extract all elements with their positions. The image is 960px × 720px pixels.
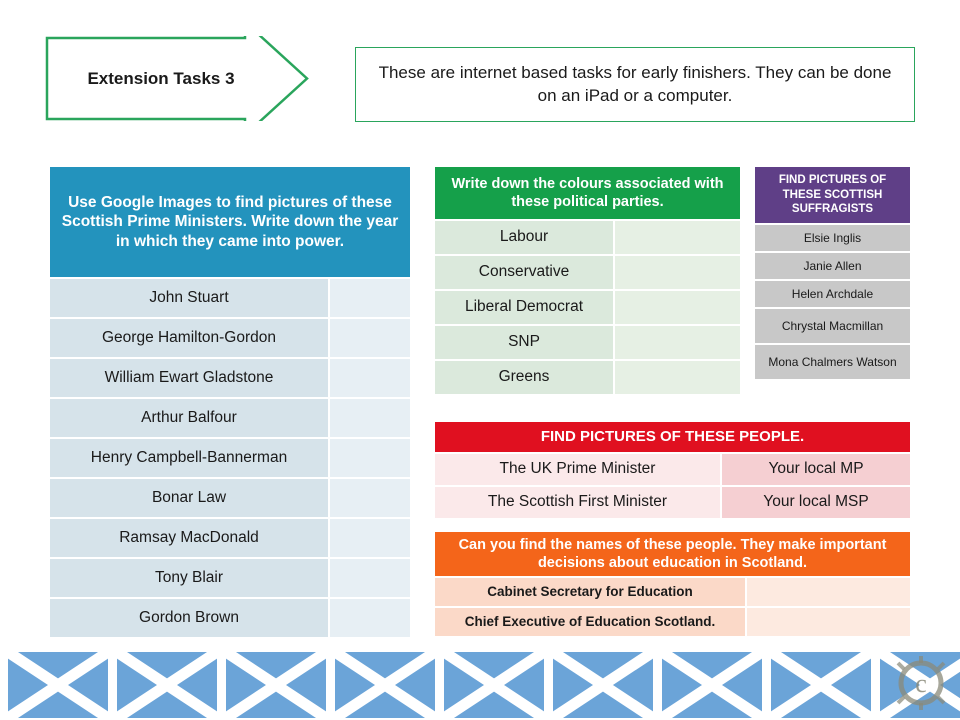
suffragist-name: Chrystal Macmillan [755, 309, 910, 343]
table-row: Janie Allen [755, 253, 910, 279]
pm-name: Arthur Balfour [50, 399, 328, 437]
table-row: Liberal Democrat [435, 291, 740, 324]
pm-table-heading: Use Google Images to find pictures of th… [50, 167, 410, 277]
pm-answer-field[interactable] [330, 599, 410, 637]
pm-answer-field[interactable] [330, 479, 410, 517]
party-name: Labour [435, 221, 613, 254]
page-header: Extension Tasks 3 These are internet bas… [0, 0, 960, 150]
scotland-flag-strip: c [0, 650, 960, 720]
table-row: The Scottish First Minister Your local M… [435, 487, 910, 518]
party-colour-field[interactable] [615, 221, 740, 254]
svg-text:c: c [915, 669, 927, 698]
party-colour-field[interactable] [615, 361, 740, 394]
education-answer-field[interactable] [747, 608, 910, 636]
intro-text: These are internet based tasks for early… [370, 62, 900, 106]
party-colour-field[interactable] [615, 326, 740, 359]
pm-name: William Ewart Gladstone [50, 359, 328, 397]
education-role: Cabinet Secretary for Education [435, 578, 745, 606]
pm-name: George Hamilton-Gordon [50, 319, 328, 357]
table-row: Elsie Inglis [755, 225, 910, 251]
table-row: George Hamilton-Gordon [50, 319, 410, 357]
scotland-flag-icon [117, 652, 217, 718]
pm-name: Tony Blair [50, 559, 328, 597]
person-role: Your local MP [722, 454, 910, 485]
scotland-flag-icon [335, 652, 435, 718]
party-colour-field[interactable] [615, 256, 740, 289]
pm-answer-field[interactable] [330, 559, 410, 597]
pm-name: Henry Campbell-Bannerman [50, 439, 328, 477]
pm-answer-field[interactable] [330, 519, 410, 557]
table-row: Bonar Law [50, 479, 410, 517]
table-row: Chief Executive of Education Scotland. [435, 608, 910, 636]
education-table-heading: Can you find the names of these people. … [435, 532, 910, 576]
party-name: Greens [435, 361, 613, 394]
scotland-flag-icon [444, 652, 544, 718]
find-pictures-people-table: FIND PICTURES OF THESE PEOPLE. The UK Pr… [435, 422, 910, 518]
pm-name: Bonar Law [50, 479, 328, 517]
pm-name: John Stuart [50, 279, 328, 317]
table-row: Tony Blair [50, 559, 410, 597]
pm-answer-field[interactable] [330, 319, 410, 357]
extension-tasks-arrow: Extension Tasks 3 [45, 36, 310, 121]
table-row: Conservative [435, 256, 740, 289]
table-row: Henry Campbell-Bannerman [50, 439, 410, 477]
suffragist-name: Mona Chalmers Watson [755, 345, 910, 379]
scotland-flag-icon [553, 652, 653, 718]
table-row: Mona Chalmers Watson [755, 345, 910, 379]
table-row: William Ewart Gladstone [50, 359, 410, 397]
scottish-suffragists-table: FIND PICTURES OF THESE SCOTTISH SUFFRAGI… [755, 167, 910, 379]
pm-name: Gordon Brown [50, 599, 328, 637]
table-row: Labour [435, 221, 740, 254]
scotland-flag-icon [226, 652, 326, 718]
scotland-flag-icon [771, 652, 871, 718]
party-table-heading: Write down the colours associated with t… [435, 167, 740, 219]
intro-box: These are internet based tasks for early… [355, 47, 915, 122]
table-row: The UK Prime Minister Your local MP [435, 454, 910, 485]
suffragist-table-heading: FIND PICTURES OF THESE SCOTTISH SUFFRAGI… [755, 167, 910, 223]
table-row: Greens [435, 361, 740, 394]
pm-answer-field[interactable] [330, 399, 410, 437]
person-role: The UK Prime Minister [435, 454, 720, 485]
table-row: Ramsay MacDonald [50, 519, 410, 557]
scottish-prime-ministers-table: Use Google Images to find pictures of th… [50, 167, 410, 637]
party-name: SNP [435, 326, 613, 359]
suffragist-name: Helen Archdale [755, 281, 910, 307]
people-table-heading: FIND PICTURES OF THESE PEOPLE. [435, 422, 910, 452]
pm-answer-field[interactable] [330, 439, 410, 477]
pm-answer-field[interactable] [330, 279, 410, 317]
party-colour-field[interactable] [615, 291, 740, 324]
table-row: Arthur Balfour [50, 399, 410, 437]
table-row: John Stuart [50, 279, 410, 317]
copyright-stamp-icon: c [890, 652, 952, 714]
education-role: Chief Executive of Education Scotland. [435, 608, 745, 636]
table-row: Cabinet Secretary for Education [435, 578, 910, 606]
pm-answer-field[interactable] [330, 359, 410, 397]
pm-name: Ramsay MacDonald [50, 519, 328, 557]
table-row: Helen Archdale [755, 281, 910, 307]
person-role: The Scottish First Minister [435, 487, 720, 518]
scotland-flag-icon [8, 652, 108, 718]
table-row: SNP [435, 326, 740, 359]
scotland-flag-icon [662, 652, 762, 718]
party-name: Conservative [435, 256, 613, 289]
suffragist-name: Elsie Inglis [755, 225, 910, 251]
table-row: Gordon Brown [50, 599, 410, 637]
education-decision-makers-table: Can you find the names of these people. … [435, 532, 910, 636]
party-name: Liberal Democrat [435, 291, 613, 324]
suffragist-name: Janie Allen [755, 253, 910, 279]
table-row: Chrystal Macmillan [755, 309, 910, 343]
person-role: Your local MSP [722, 487, 910, 518]
extension-tasks-title: Extension Tasks 3 [45, 36, 277, 121]
political-parties-table: Write down the colours associated with t… [435, 167, 740, 394]
education-answer-field[interactable] [747, 578, 910, 606]
